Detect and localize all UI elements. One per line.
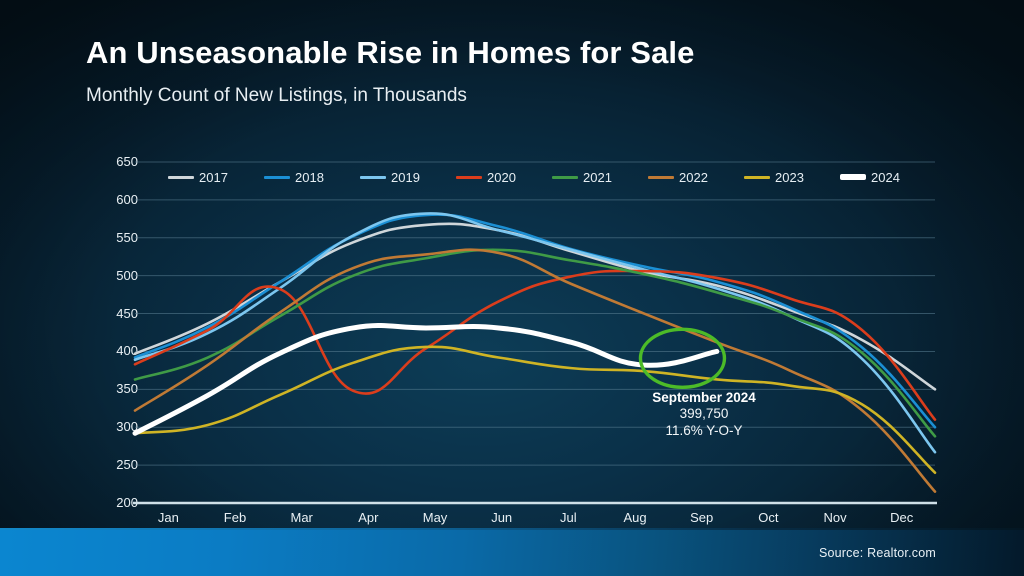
- legend-item-2017[interactable]: 2017: [168, 171, 264, 184]
- legend-swatch-icon: [744, 176, 770, 179]
- legend-label: 2019: [391, 171, 420, 184]
- legend-label: 2023: [775, 171, 804, 184]
- legend-swatch-icon: [360, 176, 386, 179]
- legend-swatch-icon: [456, 176, 482, 179]
- series-line-2024: [135, 326, 717, 434]
- line-chart-plot: [0, 0, 1024, 576]
- legend-item-2023[interactable]: 2023: [744, 171, 840, 184]
- legend-swatch-icon: [264, 176, 290, 179]
- legend-item-2022[interactable]: 2022: [648, 171, 744, 184]
- annotation-title: September 2024: [636, 390, 772, 406]
- legend-label: 2022: [679, 171, 708, 184]
- legend-label: 2021: [583, 171, 612, 184]
- legend-item-2020[interactable]: 2020: [456, 171, 552, 184]
- legend-swatch-icon: [840, 174, 866, 180]
- series-line-2020: [135, 271, 935, 420]
- annotation-yoy: 11.6% Y-O-Y: [636, 423, 772, 439]
- legend-label: 2024: [871, 171, 900, 184]
- legend-item-2019[interactable]: 2019: [360, 171, 456, 184]
- september-2024-annotation: September 2024 399,750 11.6% Y-O-Y: [636, 390, 772, 439]
- legend-item-2021[interactable]: 2021: [552, 171, 648, 184]
- legend-label: 2017: [199, 171, 228, 184]
- legend-item-2024[interactable]: 2024: [840, 171, 936, 184]
- legend-swatch-icon: [648, 176, 674, 179]
- legend-item-2018[interactable]: 2018: [264, 171, 360, 184]
- legend-label: 2020: [487, 171, 516, 184]
- series-lines: [135, 213, 935, 491]
- series-line-2021: [135, 250, 935, 436]
- annotation-value: 399,750: [636, 406, 772, 422]
- chart-legend: 20172018201920202021202220232024: [168, 168, 940, 186]
- legend-label: 2018: [295, 171, 324, 184]
- legend-swatch-icon: [168, 176, 194, 179]
- series-line-2018: [135, 215, 935, 428]
- source-attribution: Source: Realtor.com: [819, 546, 936, 560]
- legend-swatch-icon: [552, 176, 578, 179]
- highlight-ellipse-icon: [640, 329, 724, 387]
